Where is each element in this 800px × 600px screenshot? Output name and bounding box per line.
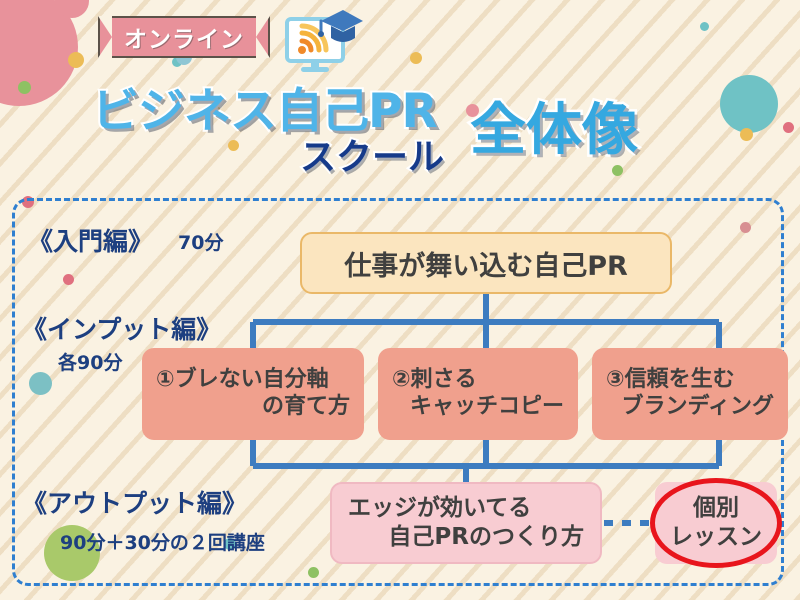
section-label-output: 《アウトプット編》 [22,484,247,520]
online-ribbon-banner: オンライン [98,16,270,58]
section-meta-nyumon: 70分 [178,228,223,255]
box-top-goal: 仕事が舞い込む自己PR [300,232,672,294]
box-output: エッジが効いてる 自己PRのつくり方 [330,482,602,564]
box-input-1-line2: の育て方 [156,394,350,421]
box-input-3-line2: ブランディング [606,394,774,421]
header: オンライン ビジネス自己PR スクール [0,0,800,190]
box-output-line2: 自己PRのつくり方 [348,523,584,552]
box-input-2: ②刺さる キャッチコピー [378,348,578,440]
ribbon-label: オンライン [98,16,270,58]
section-label-input: 《インプット編》 [22,310,221,346]
section-meta-output: 90分＋30分の２回講座 [60,528,265,555]
page-title-right: 全体像 [470,85,638,166]
box-top-goal-text: 仕事が舞い込む自己PR [344,244,628,283]
box-input-2-line1: ②刺さる [392,367,564,394]
box-input-3: ③信頼を生む ブランディング [592,348,788,440]
infographic-canvas: オンライン ビジネス自己PR スクール [0,0,800,600]
ribbon-tail [176,57,192,65]
section-meta-input: 各90分 [58,348,122,375]
highlight-ellipse-private-lesson [650,478,782,568]
box-input-1: ①ブレない自分軸 の育て方 [142,348,364,440]
box-input-3-line1: ③信頼を生む [606,367,774,394]
online-monitor-graduation-icon [285,5,363,75]
box-output-line1: エッジが効いてる [348,494,584,523]
box-input-1-line1: ①ブレない自分軸 [156,367,350,394]
section-label-nyumon: 《入門編》 [28,222,153,258]
page-title-sub: スクール [300,128,444,180]
box-input-2-line2: キャッチコピー [392,394,564,421]
